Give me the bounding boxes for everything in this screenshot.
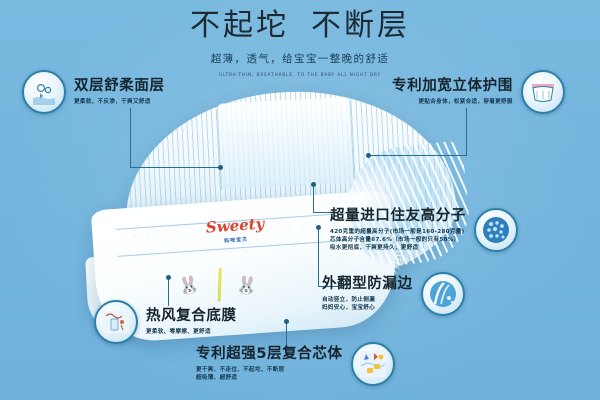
label-film-title: 热风复合底膜 (146, 308, 237, 325)
label-film-sub-0: 更柔软、零摩擦、更舒适 (146, 328, 237, 336)
connector-leak-v (318, 228, 319, 286)
label-guard-sub-0: 更贴合身体，松紧合适，穿着更舒服 (392, 98, 513, 106)
label-polymer-sub-0: 420克重的超量高分子(市场一般是160-280克量) (330, 228, 466, 236)
label-core-title: 专利超强5层复合芯体 (196, 346, 343, 363)
brand-logo: Sweety 妈咪宝贝 (204, 216, 268, 250)
label-polymer[interactable]: 超量进口住友高分子 420克重的超量高分子(市场一般是160-280克量) 芯体… (330, 208, 518, 252)
connector-dot-polymer (311, 182, 316, 187)
label-guard-text: 专利加宽立体护围 更贴合身体，松紧合适，穿着更舒服 (392, 78, 513, 106)
connector-surface-h (130, 167, 220, 168)
connector-dot-core (284, 319, 289, 324)
connector-guard-h (369, 155, 467, 156)
connector-polymer (313, 185, 314, 213)
label-film[interactable]: 热风复合底膜 更柔软、零摩擦、更舒适 (94, 300, 237, 344)
label-polymer-sub-2: 吸水更彻底，干爽更持久，更舒适 (330, 244, 466, 252)
label-guard-title: 专利加宽立体护围 (392, 78, 513, 95)
bottom-film-icon (94, 300, 138, 344)
label-leak-sub-1: 妈妈安心，宝宝舒心 (322, 304, 413, 312)
label-leak-title: 外翻型防漏边 (322, 276, 413, 293)
bunny-print-left-icon: 🐰 (176, 274, 201, 298)
label-surface-sub-0: 更柔软，不反渗，干爽又舒适 (74, 98, 165, 106)
label-core-sub-1: 超吸薄、超舒适 (196, 374, 343, 382)
droplet-absorb-icon (22, 70, 66, 114)
label-leak-sub-0: 自动竖立，防止侧漏 (322, 296, 413, 304)
connector-dot-guard (366, 153, 371, 158)
title-part-2: 不断层 (311, 8, 410, 43)
label-leak[interactable]: 外翻型防漏边 自动竖立，防止侧漏 妈妈安心，宝宝舒心 (322, 272, 465, 316)
five-layer-core-icon (351, 342, 395, 386)
label-film-text: 热风复合底膜 更柔软、零摩擦、更舒适 (146, 308, 237, 336)
title-part-1: 不起坨 (190, 8, 289, 43)
ribbon-decoration (218, 268, 222, 302)
waistband-center-panel (216, 97, 354, 190)
page-subtitle: 超薄，透气，给宝宝一整晚的舒适 (0, 51, 600, 66)
connector-dot-film (166, 275, 171, 280)
poster-header: 不起坨不断层 超薄，透气，给宝宝一整晚的舒适 ULTRA-THIN, BREAT… (0, 8, 600, 77)
diaper-waistband-icon (521, 70, 565, 114)
label-polymer-text: 超量进口住友高分子 420克重的超量高分子(市场一般是160-280克量) 芯体… (330, 208, 466, 252)
product-poster: 不起坨不断层 超薄，透气，给宝宝一整晚的舒适 ULTRA-THIN, BREAT… (0, 0, 600, 400)
label-leak-text: 外翻型防漏边 自动竖立，防止侧漏 妈妈安心，宝宝舒心 (322, 276, 413, 312)
page-title: 不起坨不断层 (0, 8, 600, 44)
label-surface[interactable]: 双层舒柔面层 更柔软，不反渗，干爽又舒适 (22, 70, 165, 114)
bunny-print-right-icon: 🐰 (235, 275, 258, 297)
label-surface-text: 双层舒柔面层 更柔软，不反渗，干爽又舒适 (74, 78, 165, 106)
leak-guard-icon (421, 272, 465, 316)
label-core-sub-0: 更干爽、不走位、不起坨、不断层 (196, 366, 343, 374)
connector-dot-leak (316, 225, 321, 230)
connector-surface (130, 108, 131, 168)
label-guard[interactable]: 专利加宽立体护围 更贴合身体，松紧合适，穿着更舒服 (392, 70, 565, 114)
label-polymer-sub-1: 芯体高分子含量67.6%（市场一般的只有58%） (330, 236, 466, 244)
connector-guard (466, 108, 467, 156)
label-surface-title: 双层舒柔面层 (74, 78, 165, 95)
label-polymer-title: 超量进口住友高分子 (330, 208, 466, 225)
connector-dot-surface (218, 165, 223, 170)
label-core-text: 专利超强5层复合芯体 更干爽、不走位、不起坨、不断层 超吸薄、超舒适 (196, 346, 343, 382)
label-core[interactable]: 专利超强5层复合芯体 更干爽、不走位、不起坨、不断层 超吸薄、超舒适 (196, 342, 395, 386)
polymer-grains-icon (474, 208, 518, 252)
